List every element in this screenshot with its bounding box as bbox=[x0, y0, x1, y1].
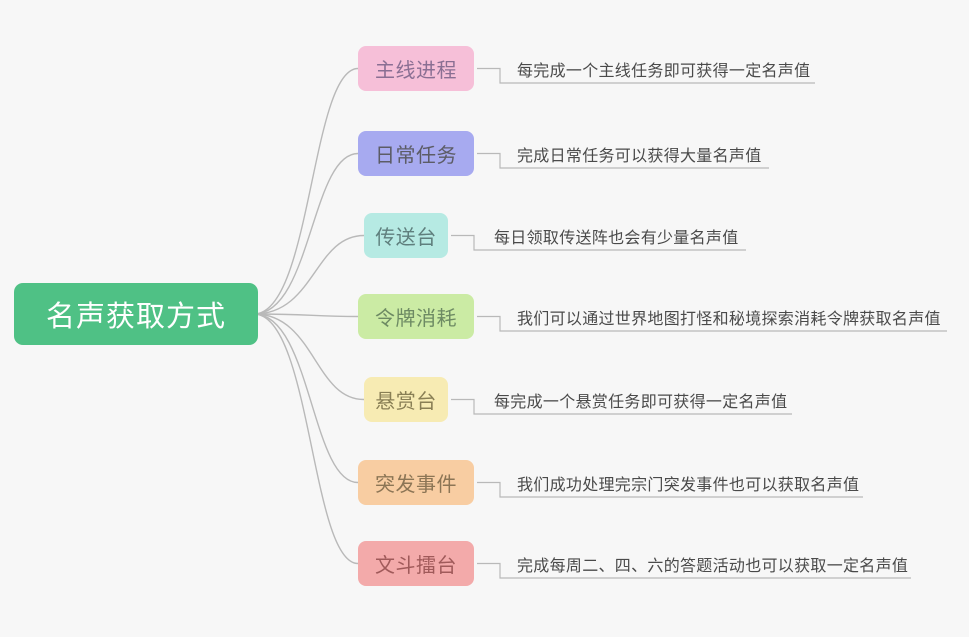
branch-node-label: 文斗擂台 bbox=[375, 549, 457, 578]
branch-node-7[interactable]: 文斗擂台 bbox=[358, 541, 474, 586]
branch-node-label: 突发事件 bbox=[375, 468, 457, 497]
root-to-branch-connector-4 bbox=[254, 314, 358, 317]
root-to-branch-connector-3 bbox=[254, 236, 364, 315]
branch-node-label: 传送台 bbox=[375, 221, 437, 250]
branch-node-2[interactable]: 日常任务 bbox=[358, 131, 474, 176]
branch-description-1: 每完成一个主线任务即可获得一定名声值 bbox=[517, 57, 810, 81]
branch-description-4: 我们可以通过世界地图打怪和秘境探索消耗令牌获取名声值 bbox=[517, 305, 941, 329]
branch-description-5: 每完成一个悬赏任务即可获得一定名声值 bbox=[494, 388, 787, 412]
root-to-branch-connector-5 bbox=[254, 314, 364, 400]
root-node[interactable]: 名声获取方式 bbox=[14, 283, 258, 345]
branch-node-3[interactable]: 传送台 bbox=[364, 213, 448, 258]
branch-node-5[interactable]: 悬赏台 bbox=[364, 377, 448, 422]
branch-description-3: 每日领取传送阵也会有少量名声值 bbox=[494, 224, 739, 248]
branch-description-6: 我们成功处理完宗门突发事件也可以获取名声值 bbox=[517, 471, 859, 495]
branch-node-label: 主线进程 bbox=[375, 54, 457, 83]
branch-node-label: 令牌消耗 bbox=[375, 302, 457, 331]
root-to-branch-connector-2 bbox=[254, 154, 358, 315]
root-to-branch-connector-7 bbox=[254, 314, 358, 564]
root-node-label: 名声获取方式 bbox=[46, 293, 226, 335]
branch-node-label: 悬赏台 bbox=[375, 385, 437, 414]
branch-node-label: 日常任务 bbox=[375, 139, 457, 168]
branch-description-2: 完成日常任务可以获得大量名声值 bbox=[517, 142, 762, 166]
root-to-branch-connector-1 bbox=[254, 69, 358, 315]
branch-node-1[interactable]: 主线进程 bbox=[358, 46, 474, 91]
root-to-branch-connector-6 bbox=[254, 314, 358, 483]
branch-description-7: 完成每周二、四、六的答题活动也可以获取一定名声值 bbox=[517, 552, 908, 576]
branch-node-6[interactable]: 突发事件 bbox=[358, 460, 474, 505]
branch-node-4[interactable]: 令牌消耗 bbox=[358, 294, 474, 339]
mindmap-canvas: 名声获取方式 主线进程日常任务传送台令牌消耗悬赏台突发事件文斗擂台 每完成一个主… bbox=[0, 0, 969, 637]
